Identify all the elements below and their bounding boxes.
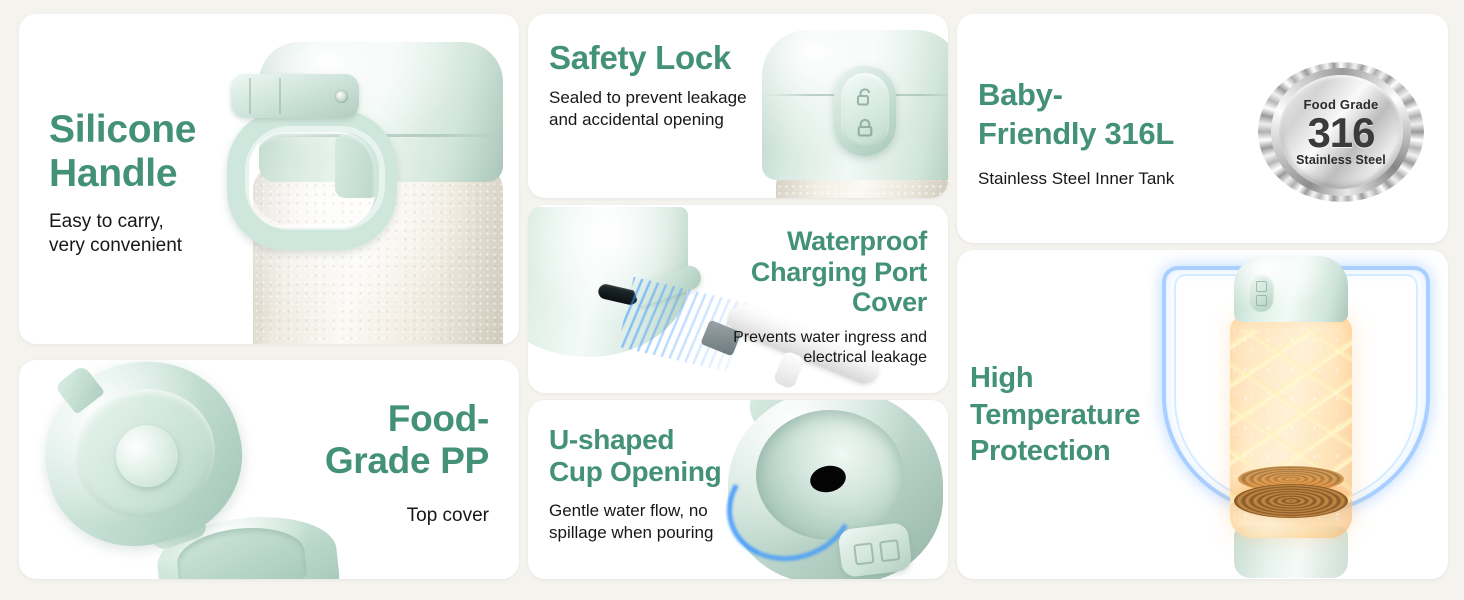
protection-shield-inner-outline bbox=[1174, 274, 1418, 506]
safety-lock-button bbox=[837, 522, 912, 578]
protection-shield-icon bbox=[1162, 266, 1430, 516]
lid-center-knob bbox=[109, 419, 184, 494]
lid-arm bbox=[742, 400, 873, 441]
safety-lock-button bbox=[1248, 274, 1274, 312]
feature-card-cup-opening: U-shaped Cup Opening Gentle water flow, … bbox=[528, 400, 948, 579]
bottle-cap bbox=[762, 30, 948, 180]
cap-seam-line bbox=[764, 94, 948, 96]
feature-card-safety-lock: Safety Lock Sealed to prevent leakage an… bbox=[528, 14, 948, 198]
feature-card-food-grade-pp: Food- Grade PP Top cover bbox=[19, 360, 519, 579]
u-shaped-funnel bbox=[756, 410, 904, 540]
pour-hole bbox=[808, 463, 849, 496]
blue-flow-glow bbox=[712, 433, 870, 578]
bottle-cap bbox=[259, 42, 503, 182]
badge-top-label: Food Grade bbox=[1304, 97, 1379, 112]
charging-port-text-block: Waterproof Charging Port Cover Prevents … bbox=[667, 226, 927, 368]
medal-face: Food Grade 316 Stainless Steel bbox=[1279, 75, 1403, 189]
bottle-cap-with-lock-button-image bbox=[718, 14, 948, 198]
bottle-base bbox=[1234, 526, 1348, 578]
card-title: High Temperature Protection bbox=[970, 360, 1140, 470]
badge-grade-number: 316 bbox=[1307, 112, 1374, 153]
card-title: Safety Lock bbox=[549, 39, 747, 76]
cup-opening-text-block: U-shaped Cup Opening Gentle water flow, … bbox=[549, 424, 721, 544]
high-temp-text-block: High Temperature Protection bbox=[970, 360, 1140, 470]
card-title: Waterproof Charging Port Cover bbox=[667, 226, 927, 318]
glowing-bottle-inside-shield-image bbox=[1148, 250, 1448, 579]
cap-seam-line bbox=[263, 134, 499, 137]
handle-hinge-bar bbox=[231, 74, 359, 118]
badge-bottom-label: Stainless Steel bbox=[1296, 153, 1386, 167]
lid-base-inner bbox=[174, 522, 307, 579]
card-title: Silicone Handle bbox=[49, 108, 196, 196]
hinge-screw-icon bbox=[335, 90, 348, 103]
handle-highlight bbox=[245, 126, 385, 230]
cup-outer-shell bbox=[728, 400, 943, 579]
food-grade-pp-text-block: Food- Grade PP Top cover bbox=[189, 398, 489, 528]
u-shaped-funnel-opening-image bbox=[718, 400, 948, 579]
card-subtitle: Stainless Steel Inner Tank bbox=[978, 168, 1174, 190]
baby-friendly-text-block: Baby- Friendly 316L Stainless Steel Inne… bbox=[978, 76, 1174, 189]
bottle-top-with-silicone-handle-image bbox=[239, 14, 519, 344]
bottle-body-frosted bbox=[776, 169, 948, 198]
silicone-handle-text-block: Silicone Handle Easy to carry, very conv… bbox=[49, 108, 196, 259]
heating-coil bbox=[1234, 484, 1348, 518]
bottle-cap bbox=[1234, 256, 1348, 322]
card-title: U-shaped Cup Opening bbox=[549, 424, 721, 487]
bottle-glass-body-heated bbox=[1230, 316, 1352, 538]
safety-lock-text-block: Safety Lock Sealed to prevent leakage an… bbox=[549, 39, 747, 131]
handle-neck bbox=[335, 134, 379, 198]
feature-card-high-temperature-protection: High Temperature Protection bbox=[957, 250, 1448, 579]
lock-icon bbox=[856, 118, 875, 138]
medal-rim bbox=[1271, 68, 1411, 196]
card-subtitle: Sealed to prevent leakage and accidental… bbox=[549, 87, 747, 131]
usb-c-port-slot bbox=[597, 283, 639, 307]
heating-coil-upper bbox=[1238, 466, 1344, 492]
lid-tab bbox=[54, 364, 105, 415]
safety-lock-button-face bbox=[841, 73, 889, 149]
product-feature-infographic: Silicone Handle Easy to carry, very conv… bbox=[0, 0, 1464, 600]
card-subtitle: Top cover bbox=[189, 504, 489, 528]
card-subtitle: Easy to carry, very convenient bbox=[49, 210, 196, 259]
card-subtitle: Gentle water flow, no spillage when pour… bbox=[549, 500, 721, 544]
card-title: Baby- Friendly 316L bbox=[978, 76, 1174, 154]
unlock-icon bbox=[856, 87, 875, 107]
food-grade-316-medal-badge: Food Grade 316 Stainless Steel bbox=[1258, 62, 1424, 202]
safety-lock-button bbox=[834, 66, 896, 156]
water-bubbles bbox=[1230, 316, 1352, 538]
bottle-body-frosted bbox=[253, 167, 503, 344]
laurel-wreath-icon bbox=[1258, 62, 1424, 202]
card-title: Food- Grade PP bbox=[189, 398, 489, 482]
bottle-base-body bbox=[528, 207, 688, 357]
card-subtitle: Prevents water ingress and electrical le… bbox=[667, 328, 927, 369]
feature-card-baby-friendly-316l: Food Grade 316 Stainless Steel Baby- Fri… bbox=[957, 14, 1448, 243]
heat-swirl-lines-secondary bbox=[1230, 330, 1352, 506]
heat-swirl-lines bbox=[1230, 330, 1352, 506]
feature-card-charging-port: Waterproof Charging Port Cover Prevents … bbox=[528, 205, 948, 393]
feature-card-silicone-handle: Silicone Handle Easy to carry, very conv… bbox=[19, 14, 519, 344]
silicone-handle-ring bbox=[227, 110, 397, 250]
